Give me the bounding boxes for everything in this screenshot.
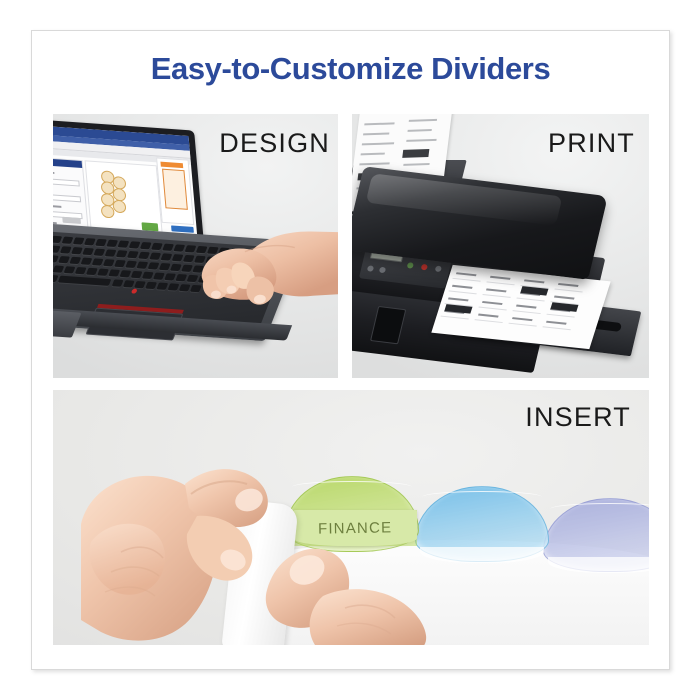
preview-shape xyxy=(112,200,126,214)
product-feature-graphic: Easy-to-Customize Dividers xyxy=(0,0,700,700)
page-title: Easy-to-Customize Dividers xyxy=(32,51,669,87)
panel-print: PRINT xyxy=(352,114,649,378)
screen-form-field xyxy=(53,177,80,186)
hand-typing-illustration xyxy=(173,216,338,327)
screen-form-button xyxy=(62,217,81,224)
printer-button xyxy=(379,267,386,274)
tab-rim xyxy=(292,481,412,493)
screen-form-field xyxy=(53,193,81,202)
screen-form-label xyxy=(53,204,61,208)
screen-form-panel xyxy=(53,156,89,230)
tab-rim xyxy=(550,503,649,515)
insert-label-text: FINANCE xyxy=(318,519,393,537)
tab-rim xyxy=(422,491,542,503)
screen-form-label xyxy=(53,170,54,174)
screen-thumbnail xyxy=(162,169,188,210)
panel-label-insert: INSERT xyxy=(525,402,631,433)
printer-button xyxy=(367,265,374,272)
content-card: Easy-to-Customize Dividers xyxy=(31,30,670,670)
screen-preview-area xyxy=(85,160,163,235)
panel-insert: FINANCE xyxy=(53,390,649,645)
panel-label-design: DESIGN xyxy=(219,128,330,159)
divider-tab-purple xyxy=(543,498,649,572)
hand-right-illustration xyxy=(249,540,439,645)
screen-thumbnail-header xyxy=(160,162,183,169)
scanner-lid-highlight xyxy=(366,173,563,225)
laptop-ports xyxy=(53,309,81,338)
screen-thumbnail-panel xyxy=(156,157,194,225)
printer-button xyxy=(435,266,442,273)
panel-label-print: PRINT xyxy=(548,128,635,159)
screen-form-header xyxy=(53,157,82,168)
printer-cartridge-slot xyxy=(370,306,406,344)
trackpoint-nub xyxy=(131,289,138,294)
printer-start-button xyxy=(407,262,414,269)
panel-design: DESIGN xyxy=(53,114,338,378)
printer-stop-button xyxy=(421,264,428,271)
